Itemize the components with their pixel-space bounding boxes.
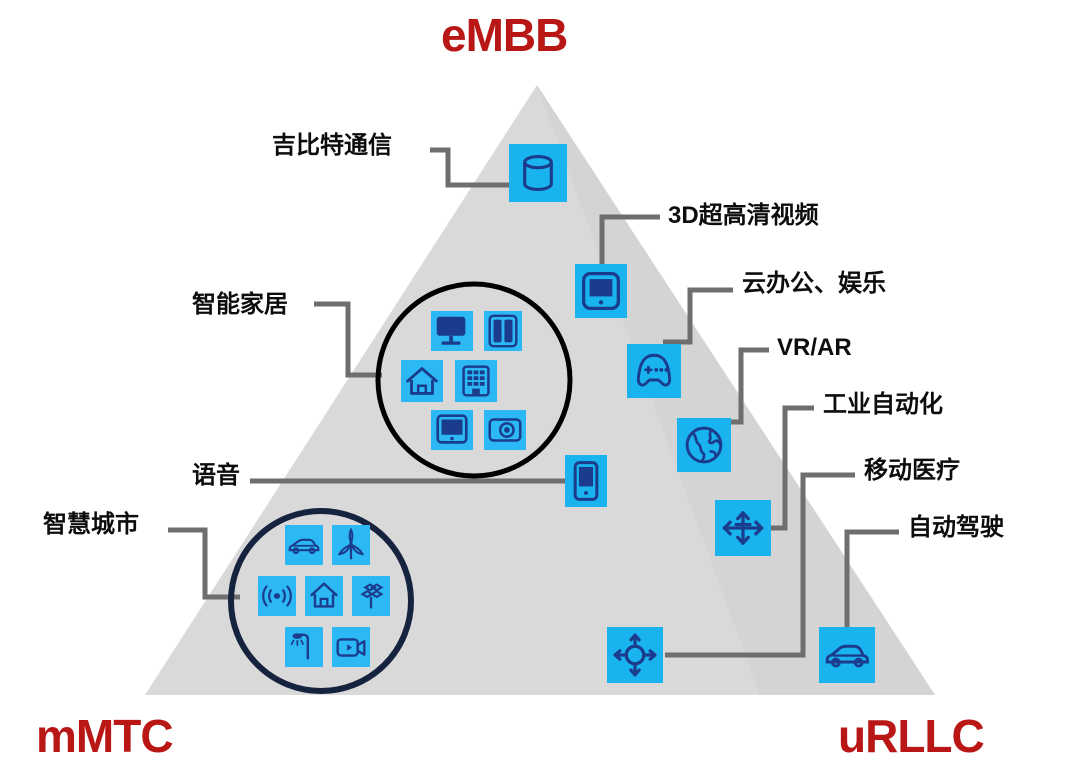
mini-home[interactable] [305, 576, 343, 616]
label-auto-drive: 自动驾驶 [908, 516, 1004, 540]
doors-icon [484, 311, 522, 351]
label-smart-city: 智慧城市 [43, 513, 139, 537]
label-voice: 语音 [192, 464, 240, 488]
building-icon [455, 360, 497, 402]
mini-desktop[interactable] [431, 311, 473, 351]
mini-building[interactable] [455, 360, 497, 402]
desktop-icon [431, 311, 473, 351]
tablet-icon [431, 410, 473, 450]
corner-label-embb: eMBB [441, 8, 567, 62]
monitor-icon [575, 264, 627, 318]
mini-windmill[interactable] [332, 525, 370, 565]
label-vr-ar: VR/AR [777, 336, 852, 360]
tile-target-arrows[interactable] [607, 627, 663, 683]
tile-four-arrows[interactable] [715, 500, 771, 556]
mini-videocam[interactable] [332, 627, 370, 667]
solar-panel-icon [352, 576, 390, 616]
label-3d-video: 3D超高清视频 [668, 204, 819, 228]
gamepad-icon [627, 344, 681, 398]
mini-solar-panel[interactable] [352, 576, 390, 616]
tile-globe[interactable] [677, 418, 731, 472]
car-icon [819, 627, 875, 683]
mini-car-side[interactable] [285, 525, 323, 565]
corner-label-mmtc: mMTC [36, 709, 173, 763]
tile-database[interactable] [509, 144, 567, 202]
mini-signal[interactable] [258, 576, 296, 616]
signal-icon [258, 576, 296, 616]
mini-tablet[interactable] [431, 410, 473, 450]
car-side-icon [285, 525, 323, 565]
house-icon [401, 360, 443, 402]
cluster-circle-layer [0, 0, 1080, 771]
camera-icon [484, 410, 526, 450]
tile-smartphone[interactable] [565, 455, 607, 507]
label-smart-home: 智能家居 [192, 293, 288, 317]
diagram-canvas: eMBB mMTC uRLLC 吉比特通信 3D超高清视频 云办公、娱乐 VR/… [0, 0, 1080, 771]
four-arrows-icon [715, 500, 771, 556]
tile-car[interactable] [819, 627, 875, 683]
label-cloud-office: 云办公、娱乐 [742, 272, 886, 296]
videocam-icon [332, 627, 370, 667]
globe-icon [677, 418, 731, 472]
label-industry: 工业自动化 [823, 393, 943, 417]
mini-streetlight[interactable] [285, 627, 323, 667]
mini-doors[interactable] [484, 311, 522, 351]
mini-house[interactable] [401, 360, 443, 402]
tile-monitor[interactable] [575, 264, 627, 318]
target-arrows-icon [607, 627, 663, 683]
smartphone-icon [565, 455, 607, 507]
corner-label-urllc: uRLLC [838, 709, 984, 763]
tile-gamepad[interactable] [627, 344, 681, 398]
label-mobile-med: 移动医疗 [864, 459, 960, 483]
mini-camera[interactable] [484, 410, 526, 450]
windmill-icon [332, 525, 370, 565]
home-icon [305, 576, 343, 616]
database-icon [509, 144, 567, 202]
streetlight-icon [285, 627, 323, 667]
label-gigabit: 吉比特通信 [272, 134, 392, 158]
